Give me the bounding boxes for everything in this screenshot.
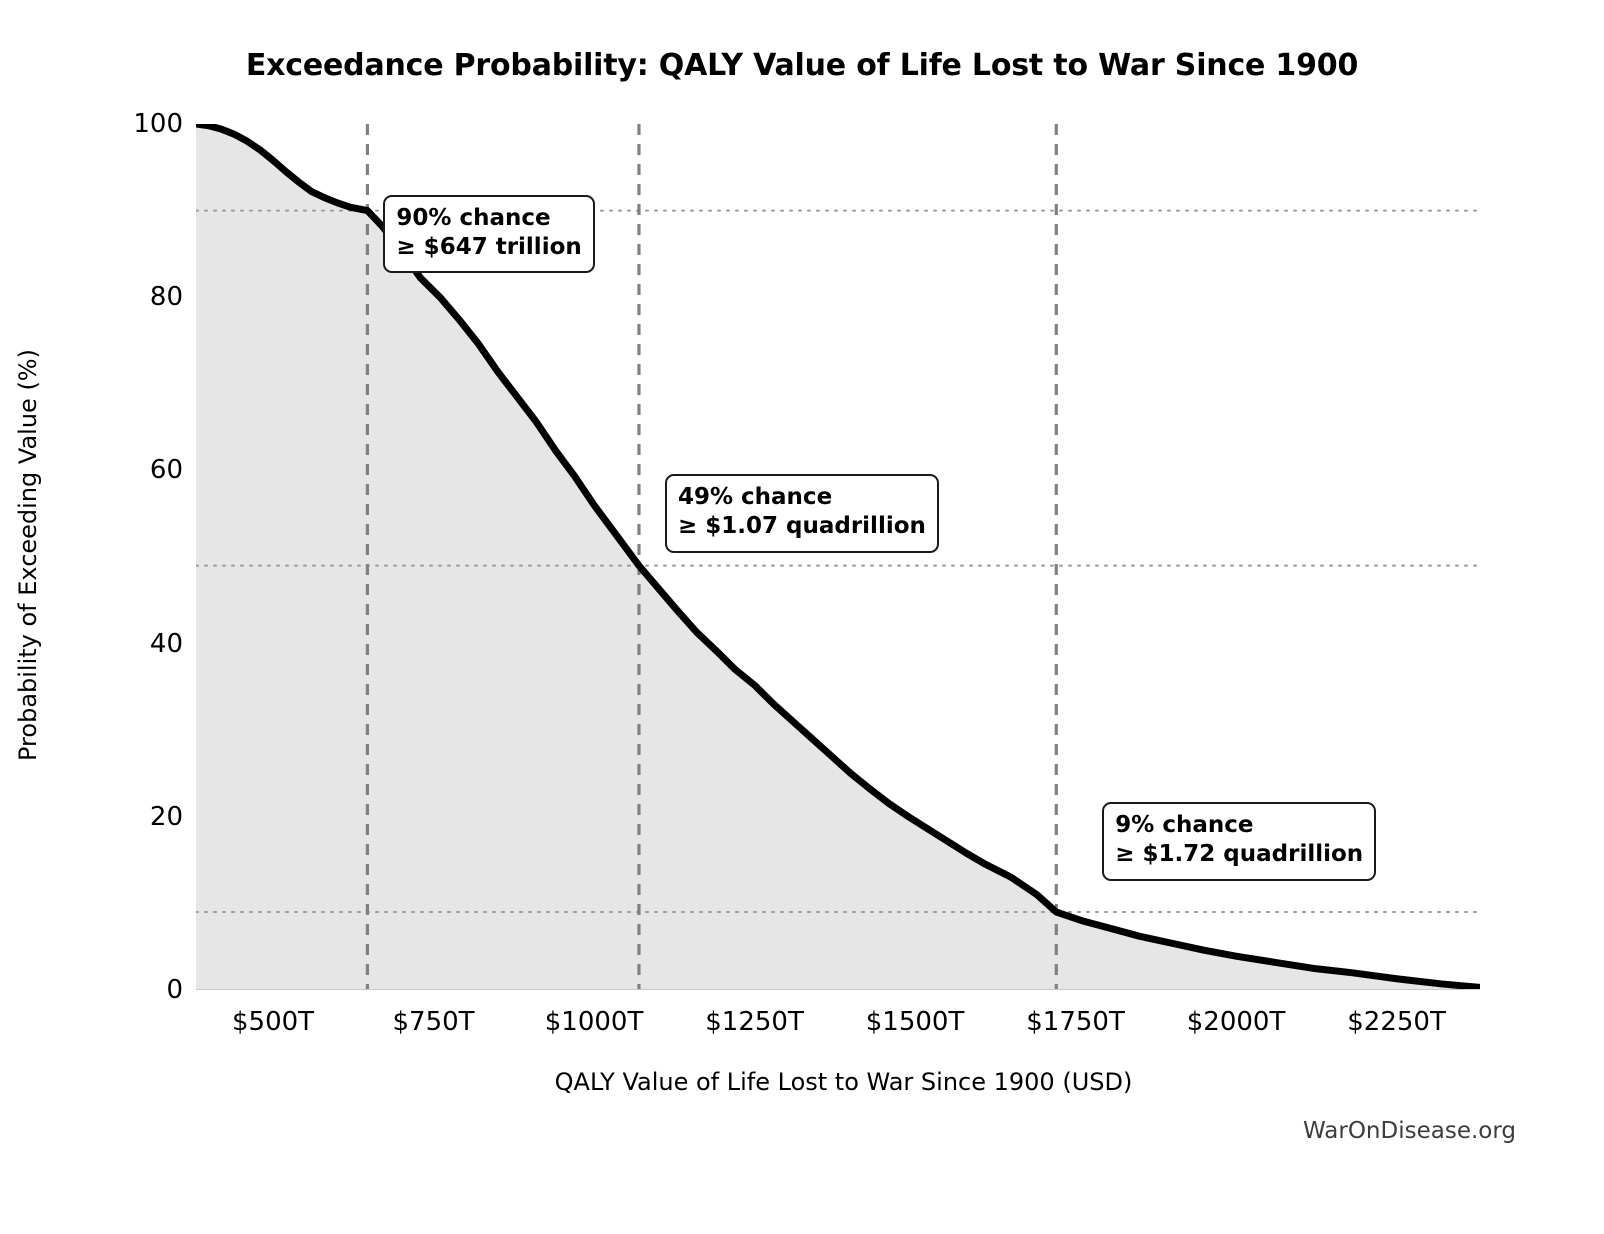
annotation-p49: 49% chance≥ $1.07 quadrillion [665,474,939,553]
annotation-p90-value: ≥ $647 trillion [396,233,581,262]
annotation-p9-chance: 9% chance [1115,811,1363,840]
y-tick-label-0: 0 [166,975,183,1005]
y-tick-label-60: 60 [150,455,183,485]
x-tick-label-$1750T: $1750T [1026,1007,1125,1037]
y-tick-label-40: 40 [150,629,183,659]
annotation-p49-value: ≥ $1.07 quadrillion [678,512,926,541]
chart-title: Exceedance Probability: QALY Value of Li… [0,48,1604,83]
annotation-p9-value: ≥ $1.72 quadrillion [1115,840,1363,869]
x-tick-label-$750T: $750T [393,1007,475,1037]
x-tick-label-$2000T: $2000T [1187,1007,1286,1037]
y-axis-label: Probability of Exceeding Value (%) [14,349,42,761]
annotation-p90-chance: 90% chance [396,204,581,233]
x-tick-label-$500T: $500T [232,1007,314,1037]
x-tick-label-$1500T: $1500T [866,1007,965,1037]
x-tick-label-$2250T: $2250T [1347,1007,1446,1037]
annotation-p9: 9% chance≥ $1.72 quadrillion [1102,802,1376,881]
y-tick-label-100: 100 [133,109,183,139]
x-tick-label-$1000T: $1000T [545,1007,644,1037]
y-tick-label-20: 20 [150,802,183,832]
chart-figure: Exceedance Probability: QALY Value of Li… [0,0,1604,1234]
annotation-p49-chance: 49% chance [678,483,926,512]
watermark: WarOnDisease.org [1303,1118,1516,1144]
x-axis-label: QALY Value of Life Lost to War Since 190… [207,1068,1480,1096]
annotation-p90: 90% chance≥ $647 trillion [383,195,594,274]
x-tick-label-$1250T: $1250T [705,1007,804,1037]
y-tick-label-80: 80 [150,282,183,312]
